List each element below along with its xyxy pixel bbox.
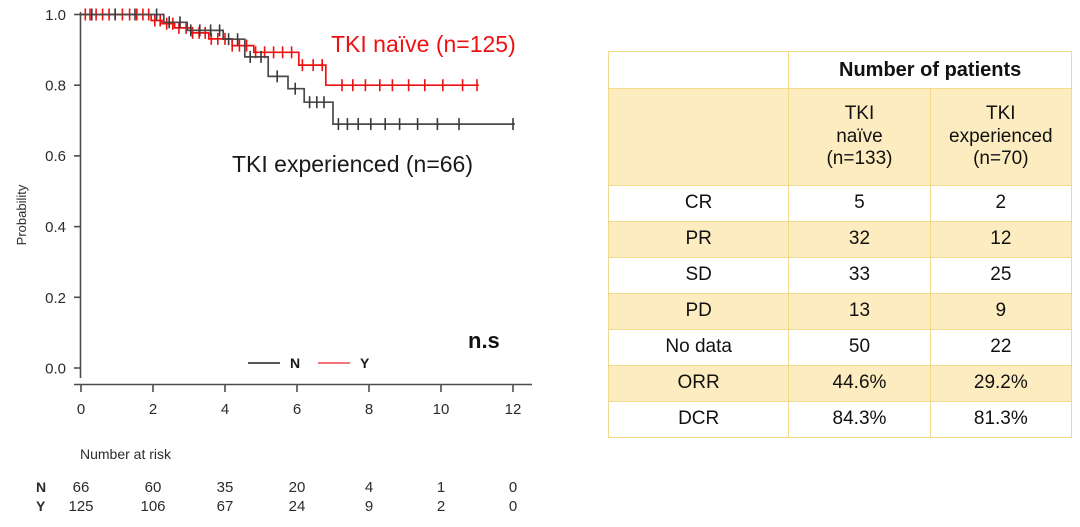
cell-no-data-experienced: 22 [930,329,1071,365]
risk-n-8: 4 [365,479,373,496]
cell-dcr-experienced: 81.3% [930,401,1071,437]
y-axis-title: Probability [14,184,29,245]
risk-y-2: 106 [140,498,165,515]
col2-line3: (n=70) [935,148,1067,170]
cell-orr-experienced: 29.2% [930,365,1071,401]
col2-line1: TKI [935,103,1067,125]
column-header-tki-naive: TKI naïve (n=133) [789,89,930,185]
table-subheader-row: TKI naïve (n=133) TKI experienced (n=70) [609,89,1072,185]
cell-orr-naive: 44.6% [789,365,930,401]
table-row: DCR 84.3% 81.3% [609,401,1072,437]
cell-pd-naive: 13 [789,293,930,329]
cell-dcr-naive: 84.3% [789,401,930,437]
km-curve-layer [81,9,515,131]
risk-n-6: 20 [289,479,306,496]
risk-row-label-n: N [36,479,46,495]
risk-y-6: 24 [289,498,306,515]
y-tick-label-08: 0.8 [45,78,66,95]
risk-n-2: 60 [145,479,162,496]
legend-label-n: N [290,355,300,371]
y-tick-label-04: 0.4 [45,219,66,236]
row-label-no-data: No data [609,329,789,365]
col1-line1: TKI [793,103,925,125]
table-row: ORR 44.6% 29.2% [609,365,1072,401]
curve-label-tki-naive: TKI naïve (n=125) [331,31,516,57]
x-tick-label-4: 4 [221,401,229,418]
y-tick-label-06: 0.6 [45,148,66,165]
risk-n-4: 35 [217,479,234,496]
numbers-at-risk-title: Number at risk [80,446,172,462]
row-label-cr: CR [609,185,789,221]
risk-row-label-y: Y [36,498,46,514]
row-label-pr: PR [609,221,789,257]
y-axis-ticks: 1.0 0.8 0.6 0.4 0.2 0.0 [45,7,80,378]
y-tick-label-00: 0.0 [45,361,66,378]
risk-y-0: 125 [68,498,93,515]
chart-legend: N Y [248,355,370,371]
x-tick-label-2: 2 [149,401,157,418]
row-label-sd: SD [609,257,789,293]
risk-n-0: 66 [73,479,90,496]
response-table-container: Number of patients TKI naïve (n=133) TKI… [608,51,1072,438]
table-header-title: Number of patients [789,52,1072,89]
response-table: Number of patients TKI naïve (n=133) TKI… [608,51,1072,438]
risk-y-12: 0 [509,498,517,515]
y-tick-label-1: 1.0 [45,7,66,24]
numbers-at-risk-table: N Y 66 60 35 20 4 1 0 125 106 67 24 9 2 … [36,479,517,515]
km-curve-tki-experienced [81,9,515,131]
cell-pr-experienced: 12 [930,221,1071,257]
km-figure-panel: 1.0 0.8 0.6 0.4 0.2 0.0 Probability 0 2 … [0,0,580,527]
x-tick-label-6: 6 [293,401,301,418]
risk-y-10: 2 [437,498,445,515]
table-row: PR 32 12 [609,221,1072,257]
x-tick-label-0: 0 [77,401,85,418]
column-header-tki-experienced: TKI experienced (n=70) [930,89,1071,185]
km-survival-chart: 1.0 0.8 0.6 0.4 0.2 0.0 Probability 0 2 … [0,0,580,527]
table-row: PD 13 9 [609,293,1072,329]
table-row: No data 50 22 [609,329,1072,365]
table-subheader-corner [609,89,789,185]
col1-line2: naïve [793,126,925,148]
risk-y-8: 9 [365,498,373,515]
risk-n-10: 1 [437,479,445,496]
x-axis-ticks: 0 2 4 6 8 10 12 [77,385,522,419]
table-header-row: Number of patients [609,52,1072,89]
x-tick-label-10: 10 [433,401,450,418]
x-tick-label-12: 12 [505,401,522,418]
cell-no-data-naive: 50 [789,329,930,365]
table-row: SD 33 25 [609,257,1072,293]
significance-label: n.s [468,328,500,353]
cell-sd-experienced: 25 [930,257,1071,293]
risk-y-4: 67 [217,498,234,515]
table-corner-cell [609,52,789,89]
table-row: CR 5 2 [609,185,1072,221]
y-tick-label-02: 0.2 [45,290,66,307]
cell-cr-naive: 5 [789,185,930,221]
row-label-pd: PD [609,293,789,329]
curve-label-tki-experienced: TKI experienced (n=66) [232,151,473,177]
cell-sd-naive: 33 [789,257,930,293]
risk-n-12: 0 [509,479,517,496]
x-tick-label-8: 8 [365,401,373,418]
col2-line2: experienced [935,126,1067,148]
row-label-orr: ORR [609,365,789,401]
col1-line3: (n=133) [793,148,925,170]
row-label-dcr: DCR [609,401,789,437]
legend-label-y: Y [360,355,370,371]
cell-pd-experienced: 9 [930,293,1071,329]
cell-cr-experienced: 2 [930,185,1071,221]
cell-pr-naive: 32 [789,221,930,257]
